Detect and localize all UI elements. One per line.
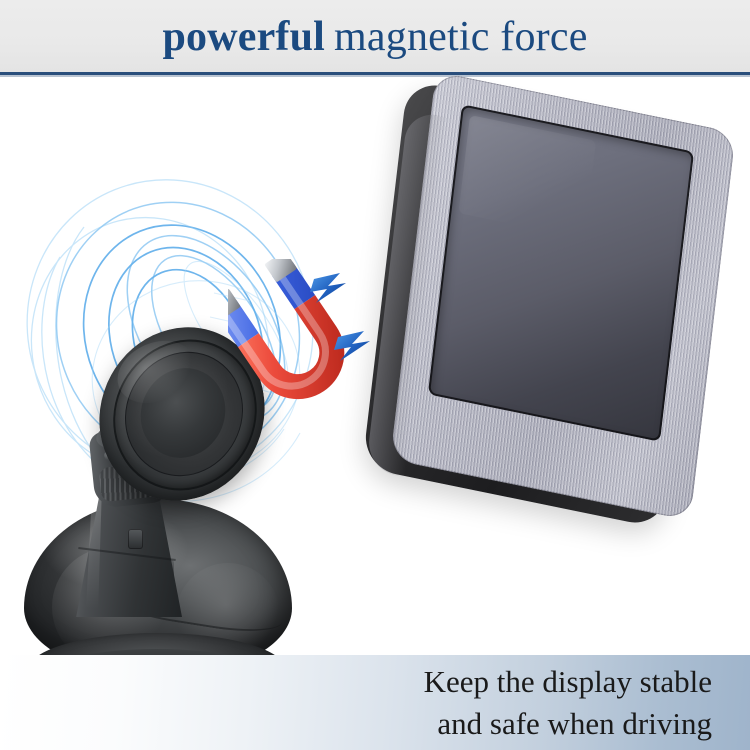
product-stage bbox=[0, 77, 750, 750]
product-marketing-image: powerfulmagnetic force bbox=[0, 0, 750, 750]
caption-line-2: and safe when driving bbox=[0, 703, 712, 745]
magnet-body bbox=[228, 259, 355, 407]
tablet-display bbox=[385, 102, 730, 512]
mount-stem-button bbox=[128, 529, 143, 549]
caption-line-1: Keep the display stable bbox=[0, 661, 712, 703]
page-title: powerfulmagnetic force bbox=[0, 4, 750, 70]
tablet-screen bbox=[428, 104, 694, 442]
caption-text: Keep the display stable and safe when dr… bbox=[0, 661, 712, 745]
title-bold-word: powerful bbox=[162, 14, 325, 60]
horseshoe-magnet bbox=[228, 259, 378, 429]
title-regular-word: magnetic force bbox=[334, 14, 588, 60]
